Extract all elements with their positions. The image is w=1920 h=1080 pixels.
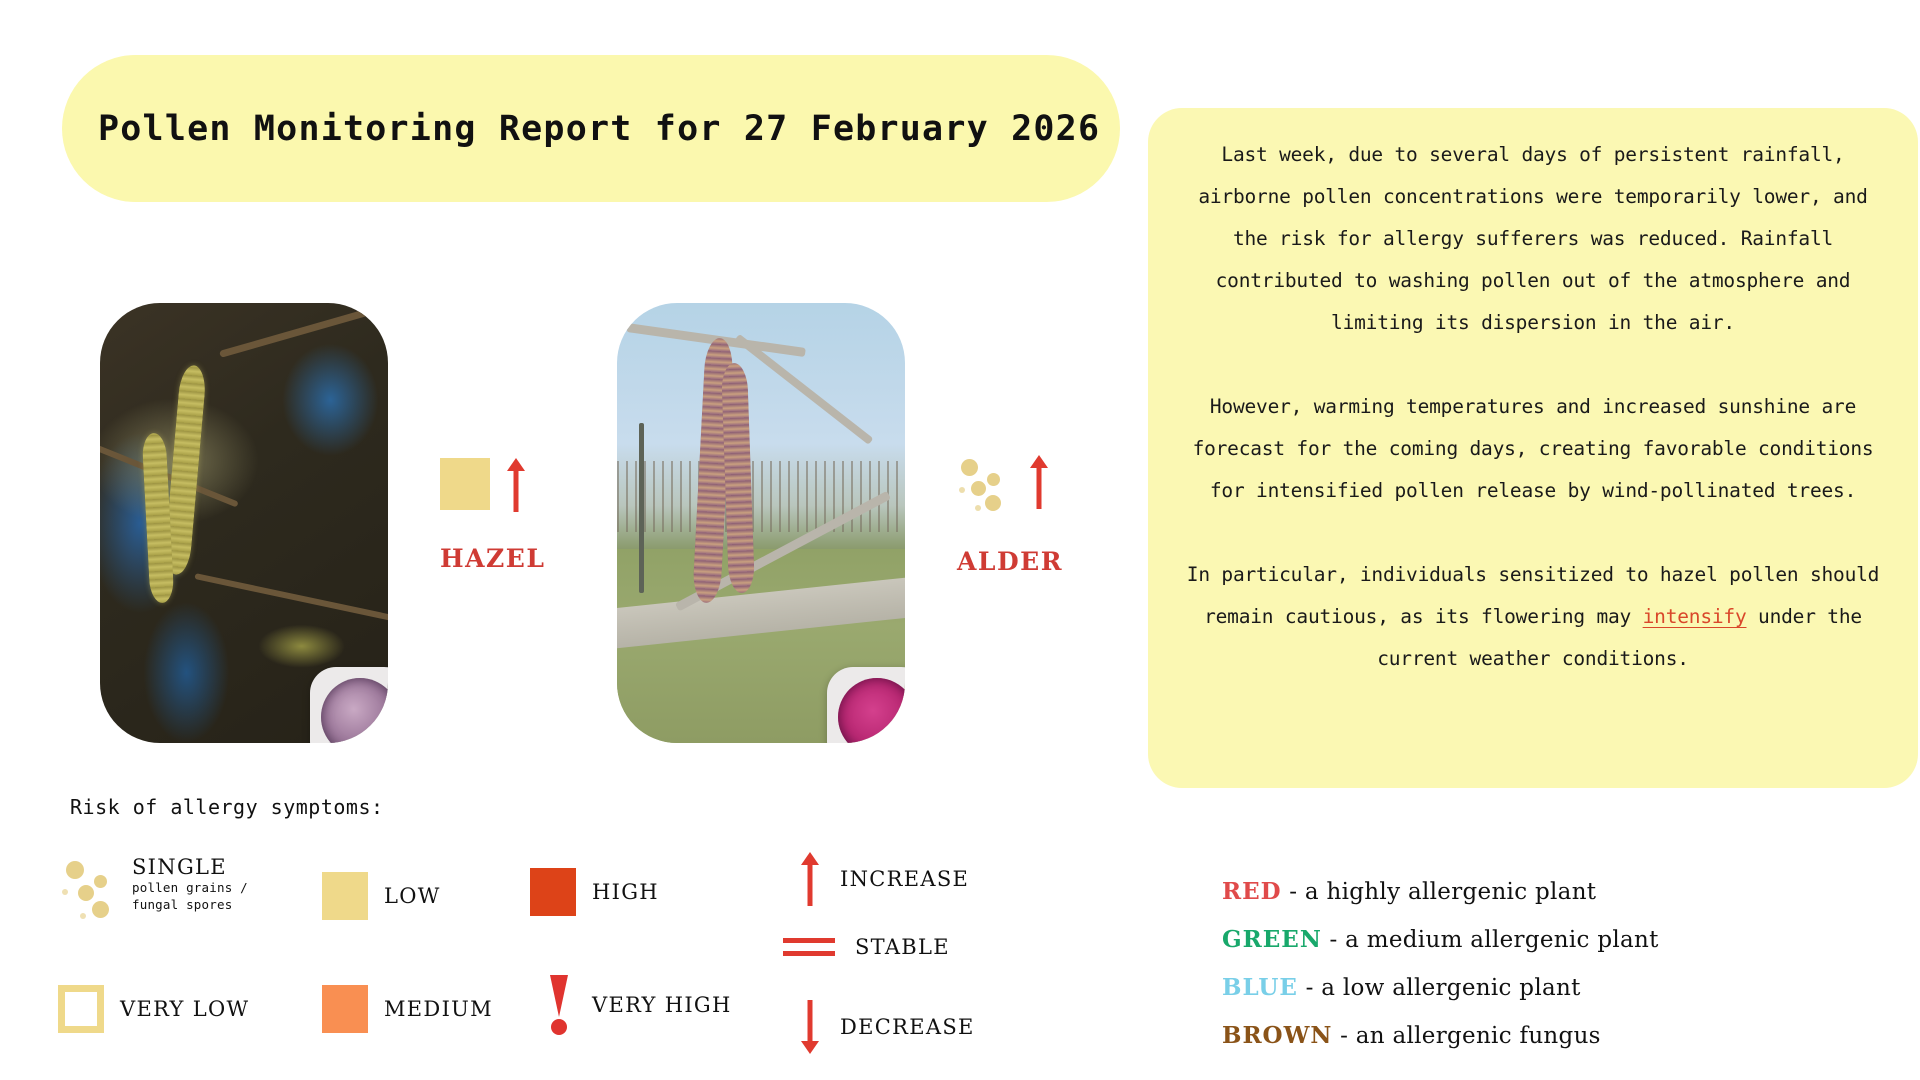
color-key-desc-green: - a medium allergenic plant: [1322, 927, 1659, 953]
legend-label-stable: STABLE: [855, 935, 950, 959]
legend-label-decrease: DECREASE: [840, 1015, 975, 1039]
treeline-shape: [617, 461, 905, 531]
arrow-shaft: [1037, 465, 1042, 509]
plant-card-hazel[interactable]: HAZEL: [100, 303, 388, 743]
legend-item-increase: INCREASE: [800, 852, 969, 906]
legend-label-high: HIGH: [592, 880, 659, 904]
arrow-shaft: [808, 862, 813, 906]
legend-item-high: HIGH: [530, 868, 659, 916]
legend-sub-single-2: fungal spores: [132, 896, 248, 913]
arrow-head: [507, 458, 525, 471]
title-banner: Pollen Monitoring Report for 27 February…: [62, 55, 1120, 202]
catkin-shape: [142, 432, 175, 603]
color-key-row: BLUE - a low allergenic plant: [1222, 964, 1659, 1012]
hazel-level-swatch-low: [440, 458, 490, 510]
legend-swatch-very-low: [58, 985, 104, 1033]
legend-item-very-low: VERY LOW: [58, 985, 249, 1033]
equals-bar: [783, 951, 835, 956]
hazel-catkins-photo: [100, 303, 388, 743]
hazel-level-row: [440, 458, 545, 512]
branch-shape: [194, 573, 388, 623]
arrow-down-icon: [800, 1000, 820, 1054]
color-key-desc-blue: - a low allergenic plant: [1298, 975, 1581, 1001]
color-key-word-green: GREEN: [1222, 926, 1322, 953]
legend-swatch-low: [322, 872, 368, 920]
color-key-row: RED - a highly allergenic plant: [1222, 868, 1659, 916]
color-key-word-red: RED: [1222, 878, 1282, 905]
alder-catkins-photo: [617, 303, 905, 743]
pollen-dot: [66, 861, 84, 879]
forecast-paragraph-3: In particular, individuals sensitized to…: [1178, 554, 1888, 680]
intensify-highlight[interactable]: intensify: [1643, 605, 1747, 628]
legend-item-medium: MEDIUM: [322, 985, 493, 1033]
exclamation-dot: [551, 1019, 567, 1035]
color-key-desc-brown: - an allergenic fungus: [1332, 1023, 1600, 1049]
color-key-word-brown: BROWN: [1222, 1022, 1332, 1049]
color-key-word-blue: BLUE: [1222, 974, 1298, 1001]
plant-card-alder[interactable]: ALDER: [617, 303, 905, 743]
page-title: Pollen Monitoring Report for 27 February…: [62, 109, 1100, 149]
forecast-info-panel: Last week, due to several days of persis…: [1148, 108, 1918, 788]
color-key-row: BROWN - an allergenic fungus: [1222, 1012, 1659, 1060]
legend-item-very-high: VERY HIGH: [548, 975, 732, 1035]
color-key-row: GREEN - a medium allergenic plant: [1222, 916, 1659, 964]
legend-sub-single-1: pollen grains /: [132, 879, 248, 896]
legend-item-single: SINGLE pollen grains / fungal spores: [60, 855, 248, 921]
hazel-indicator: HAZEL: [440, 458, 545, 573]
pollen-dot: [985, 495, 1001, 511]
legend-label-medium: MEDIUM: [384, 997, 493, 1021]
legend-label-single: SINGLE: [132, 855, 248, 879]
equals-icon: [783, 936, 835, 958]
pollen-grains-icon: [957, 453, 1013, 515]
alder-pollen-micrograph: [827, 667, 905, 743]
pollen-dot: [971, 481, 986, 496]
legend-single-text: SINGLE pollen grains / fungal spores: [132, 855, 248, 913]
arrow-up-icon: [1029, 455, 1049, 509]
forecast-paragraph-2: However, warming temperatures and increa…: [1178, 386, 1888, 512]
branch-shape: [219, 303, 388, 358]
pollen-dot: [987, 473, 1000, 486]
pollen-dot: [62, 889, 68, 895]
arrow-shaft: [514, 468, 519, 512]
pollen-dot: [975, 505, 981, 511]
legend-swatch-medium: [322, 985, 368, 1033]
arrow-head: [1030, 455, 1048, 468]
legend-label-low: LOW: [384, 884, 441, 908]
pollen-dot: [94, 875, 107, 888]
equals-bar: [783, 938, 835, 943]
arrow-shaft: [808, 1000, 813, 1044]
forecast-paragraph-1: Last week, due to several days of persis…: [1178, 134, 1888, 344]
plant-name-alder: ALDER: [957, 547, 1063, 576]
lamp-post-shape: [639, 423, 644, 593]
micrograph-grain: [838, 678, 905, 743]
color-key-desc-red: - a highly allergenic plant: [1282, 879, 1597, 905]
exclamation-bar: [550, 975, 568, 1017]
alder-level-row: [957, 453, 1063, 515]
legend-label-very-high: VERY HIGH: [592, 993, 732, 1017]
pollen-dot: [961, 459, 978, 476]
pollen-dot: [78, 885, 94, 901]
pollen-dot: [80, 913, 86, 919]
alder-indicator: ALDER: [957, 453, 1063, 576]
arrow-head: [801, 852, 819, 865]
pollen-dot: [92, 901, 109, 918]
legend-item-stable: STABLE: [783, 935, 950, 959]
legend-swatch-high: [530, 868, 576, 916]
plant-name-hazel: HAZEL: [440, 544, 545, 573]
legend-label-increase: INCREASE: [840, 867, 969, 891]
allergen-color-key: RED - a highly allergenic plant GREEN - …: [1222, 868, 1659, 1060]
legend-label-very-low: VERY LOW: [120, 997, 249, 1021]
micrograph-grain: [321, 678, 388, 743]
pollen-report-page: Pollen Monitoring Report for 27 February…: [0, 0, 1920, 1080]
pollen-grains-icon: [60, 859, 116, 921]
legend-title: Risk of allergy symptoms:: [70, 795, 384, 819]
arrow-up-icon: [800, 852, 820, 906]
legend-item-low: LOW: [322, 872, 441, 920]
arrow-head: [801, 1041, 819, 1054]
legend-item-decrease: DECREASE: [800, 1000, 975, 1054]
pollen-dot: [959, 487, 965, 493]
arrow-up-icon: [506, 458, 526, 512]
exclamation-icon: [548, 975, 570, 1035]
hazel-pollen-micrograph: [310, 667, 388, 743]
